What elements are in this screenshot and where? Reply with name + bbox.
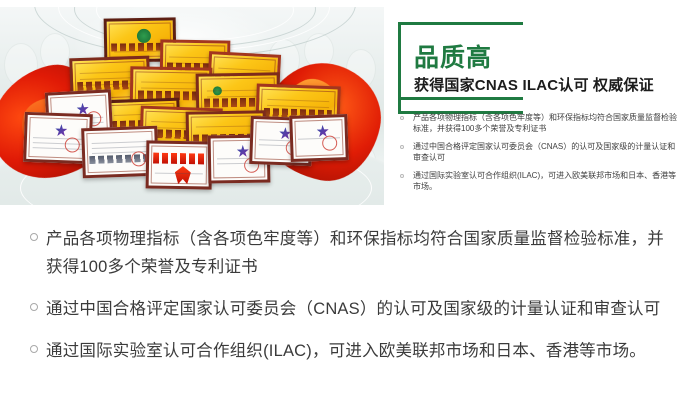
list-item-text: 通过国际实验室认可合作组织(ILAC)，可进入欧美联邦市场和日本、香港等市场。 [46, 337, 688, 365]
list-item-text: 通过中国合格评定国家认可委员会（CNAS）的认可及国家级的计量认证和审查认可 [413, 141, 678, 163]
list-item-text: 通过中国合格评定国家认可委员会（CNAS）的认可及国家级的计量认证和审查认可 [46, 295, 688, 323]
list-item: 产品各项物理指标（含各项色牢度等）和环保指标均符合国家质量监督检验标准，并获得1… [400, 112, 678, 134]
list-item: 通过国际实验室认可合作组织(ILAC)，可进入欧美联邦市场和日本、香港等市场。 [400, 170, 678, 192]
card-title: 品质高 [414, 46, 492, 71]
list-item-text: 产品各项物理指标（含各项色牢度等）和环保指标均符合国家质量监督检验标准，并获得1… [413, 112, 678, 134]
bullet-circle-icon [400, 174, 404, 178]
list-item: 通过中国合格评定国家认可委员会（CNAS）的认可及国家级的计量认证和审查认可 [400, 141, 678, 163]
bottom-bullet-list: 产品各项物理指标（含各项色牢度等）和环保指标均符合国家质量监督检验标准，并获得1… [0, 213, 688, 417]
bullet-circle-icon [400, 116, 404, 120]
bracket-frame-bottom [398, 91, 523, 114]
promo-page: 品质高 获得国家CNAS ILAC认可 权威保证 产品各项物理指标（含各项色牢度… [0, 0, 688, 417]
certificate-plaque [146, 140, 213, 189]
bullet-circle-icon [30, 303, 38, 311]
certificate-wall-photo [0, 7, 384, 205]
list-item: 通过国际实验室认可合作组织(ILAC)，可进入欧美联邦市场和日本、香港等市场。 [0, 337, 688, 365]
list-item: 产品各项物理指标（含各项色牢度等）和环保指标均符合国家质量监督检验标准，并获得1… [0, 225, 688, 281]
bullet-circle-icon [400, 145, 404, 149]
card-subtitle: 获得国家CNAS ILAC认可 权威保证 [414, 78, 654, 93]
list-item-text: 通过国际实验室认可合作组织(ILAC)，可进入欧美联邦市场和日本、香港等市场。 [413, 170, 678, 192]
card-bullet-list: 产品各项物理指标（含各项色牢度等）和环保指标均符合国家质量监督检验标准，并获得1… [400, 112, 678, 199]
list-item: 通过中国合格评定国家认可委员会（CNAS）的认可及国家级的计量认证和审查认可 [0, 295, 688, 323]
list-item-text: 产品各项物理指标（含各项色牢度等）和环保指标均符合国家质量监督检验标准，并获得1… [46, 225, 688, 281]
certificate-plaque [289, 114, 349, 162]
bullet-circle-icon [30, 233, 38, 241]
hero-section: 品质高 获得国家CNAS ILAC认可 权威保证 产品各项物理指标（含各项色牢度… [0, 0, 688, 211]
bullet-circle-icon [30, 345, 38, 353]
quality-card: 品质高 获得国家CNAS ILAC认可 权威保证 产品各项物理指标（含各项色牢度… [398, 22, 680, 194]
